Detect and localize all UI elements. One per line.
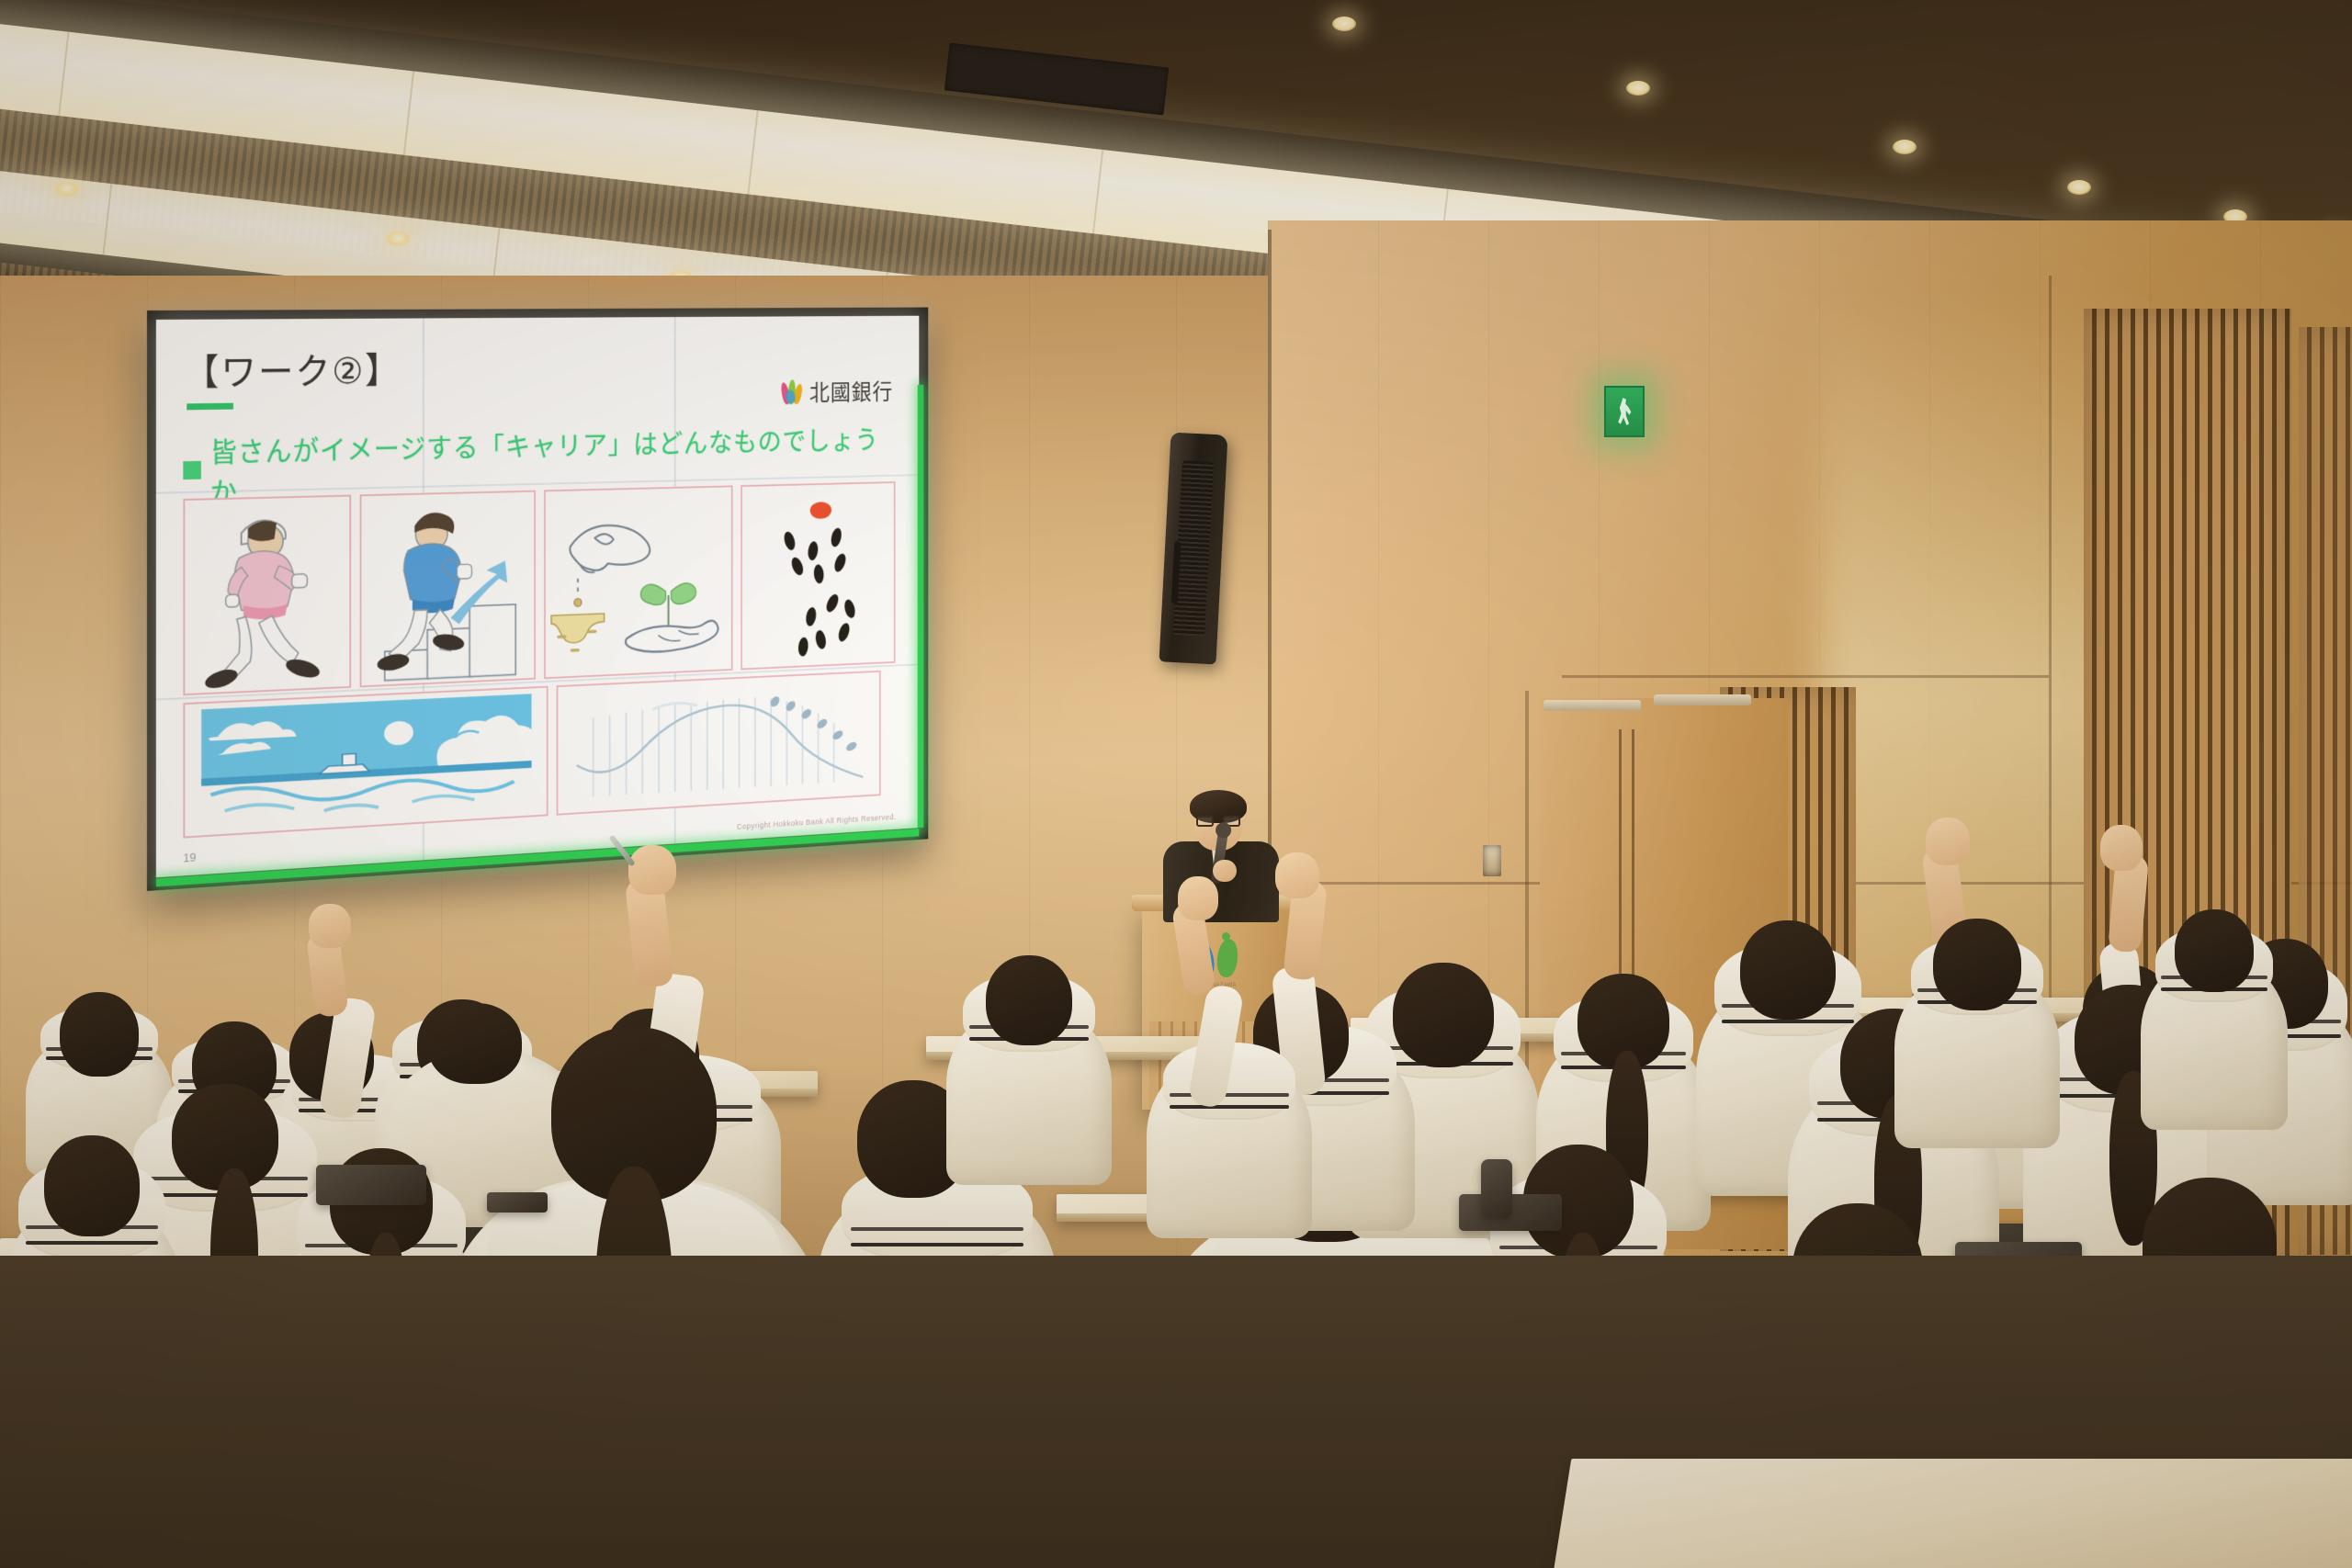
student-with-raised-hand — [1147, 889, 1312, 1238]
screen-surface: 【ワーク②】 北國銀行 皆さんがイメージする「キャリア」はどんなものでしょうか — [156, 316, 919, 878]
presentation-video-wall[interactable]: 【ワーク②】 北國銀行 皆さんがイメージする「キャリア」はどんなものでしょうか — [147, 308, 928, 891]
door-closer-arm — [1543, 700, 1641, 711]
downlight-icon — [55, 182, 79, 197]
pencil-case — [316, 1165, 426, 1205]
downlight-icon — [1893, 140, 1917, 154]
door-closer-arm — [1654, 694, 1751, 705]
slide-footnote: Copyright Hokkoku Bank All Rights Reserv… — [737, 812, 897, 830]
illustration-grid-row — [183, 481, 899, 696]
illustration-grid — [183, 481, 899, 845]
running-figure-icon — [1617, 398, 1632, 425]
slide-page-number: 19 — [183, 851, 196, 865]
student — [2141, 909, 2288, 1130]
screen-edge-highlight — [918, 385, 924, 828]
title-underline — [187, 403, 233, 411]
downlight-icon — [1626, 81, 1650, 96]
student — [1894, 919, 2060, 1148]
scattered-seeds-illustration — [741, 481, 895, 671]
seminar-room-photo: 【ワーク②】 北國銀行 皆さんがイメージする「キャリア」はどんなものでしょうか — [0, 0, 2352, 1568]
seminar-desk-foreground — [1553, 1459, 2352, 1568]
downlight-icon — [386, 231, 410, 246]
stairs-climbing-illustration — [359, 491, 535, 688]
water-bottle — [1481, 1159, 1512, 1218]
illustration-grid-row — [183, 670, 899, 838]
wall-mounted-line-array-speaker — [1159, 433, 1228, 665]
slide-content: 【ワーク②】 北國銀行 皆さんがイメージする「キャリア」はどんなものでしょうか — [156, 316, 919, 878]
emergency-exit-sign — [1604, 386, 1645, 437]
seed-planting-illustration — [544, 485, 733, 679]
smartphone — [487, 1192, 548, 1213]
downlight-icon — [2067, 180, 2091, 195]
running-person-illustration — [183, 495, 350, 696]
hokkoku-bank-logo-icon — [782, 379, 804, 405]
wall-seam — [1562, 675, 2049, 678]
seascape-illustration — [183, 686, 548, 838]
student — [946, 955, 1112, 1185]
line-graph-illustration — [557, 671, 880, 815]
bullet-square-icon — [183, 461, 201, 479]
downlight-icon — [1332, 17, 1356, 31]
wall-light-switch[interactable] — [1483, 845, 1501, 876]
slide-logo-text: 北國銀行 — [809, 375, 893, 407]
slide-logo: 北國銀行 — [782, 375, 893, 408]
